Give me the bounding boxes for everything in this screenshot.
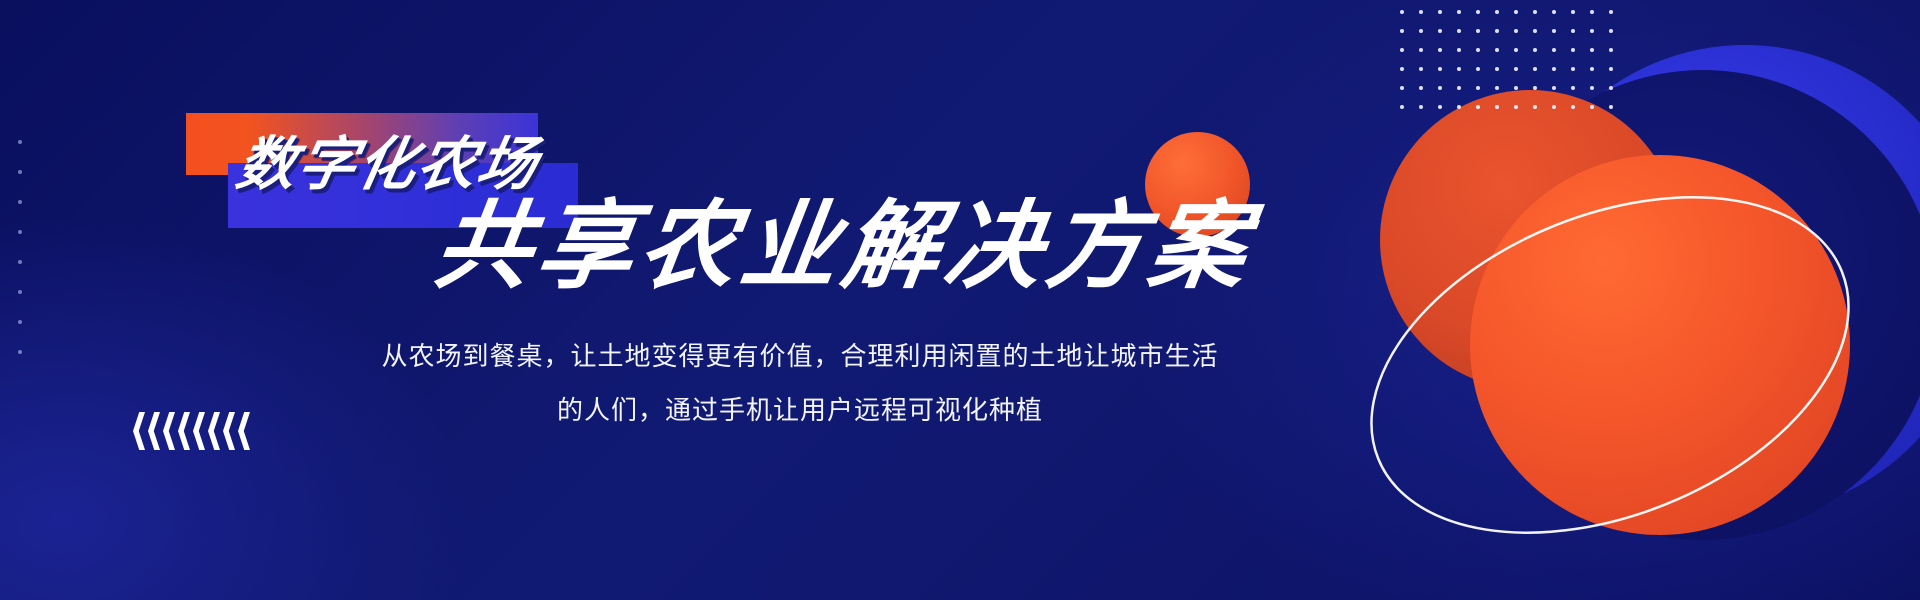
marketing-banner: 数字化农场 共享农业解决方案 从农场到餐桌，让土地变得更有价值，合理利用闲置的土…	[0, 0, 1920, 600]
page-title: 共享农业解决方案	[429, 198, 1258, 294]
badge-label: 数字化农场	[232, 135, 543, 193]
banner-content: 数字化农场 共享农业解决方案 从农场到餐桌，让土地变得更有价值，合理利用闲置的土…	[0, 0, 1920, 600]
subtitle-line-2: 的人们，通过手机让用户远程可视化种植	[300, 384, 1300, 438]
subtitle-line-1: 从农场到餐桌，让土地变得更有价值，合理利用闲置的土地让城市生活	[300, 330, 1300, 384]
subtitle: 从农场到餐桌，让土地变得更有价值，合理利用闲置的土地让城市生活 的人们，通过手机…	[300, 330, 1300, 438]
